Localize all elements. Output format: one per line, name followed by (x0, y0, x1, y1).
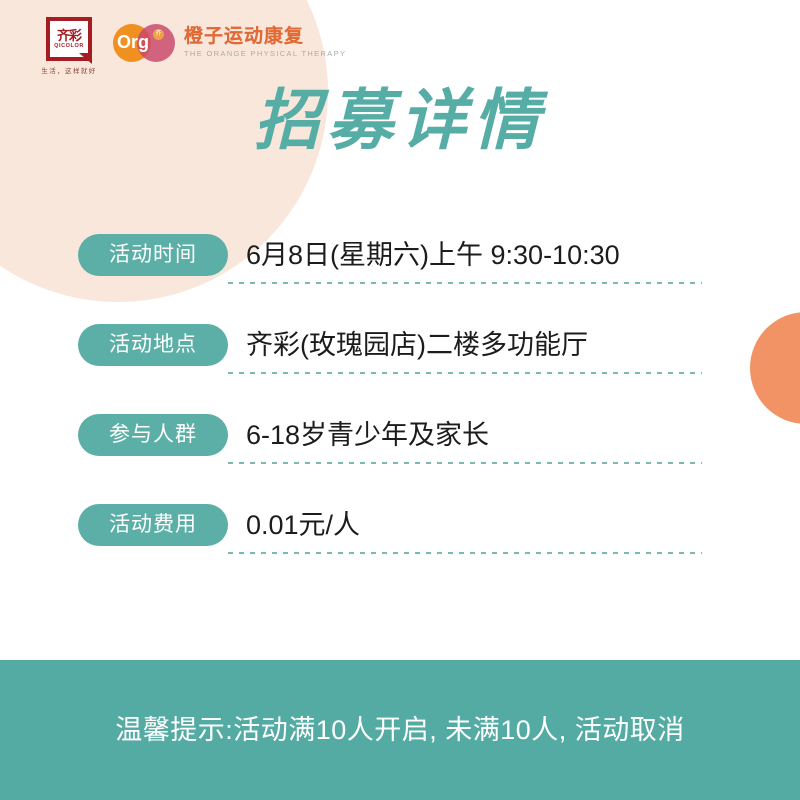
org-mark-text: Org (117, 33, 149, 52)
info-label-participants: 参与人群 (78, 414, 228, 456)
qicolor-wordmark: QICOLOR (54, 43, 84, 50)
row-divider (228, 552, 702, 554)
org-badge-icon: 齐 (153, 29, 164, 40)
row-divider (228, 462, 702, 464)
poster-root: 齐彩 QICOLOR 生活，这样就好 Org 齐 橙子运动康复 THE ORAN… (0, 0, 800, 800)
qicolor-tagline: 生活，这样就好 (41, 65, 96, 75)
decorative-orange-circle (750, 312, 800, 424)
orange-therapy-logo: Org 齐 橙子运动康复 THE ORANGE PHYSICAL THERAPY (113, 24, 346, 62)
qicolor-logo: 齐彩 QICOLOR 生活，这样就好 (38, 17, 100, 79)
info-label-activity-location: 活动地点 (78, 324, 228, 366)
org-circles-icon: Org 齐 (113, 24, 175, 62)
footer-notice-text: 温馨提示:活动满10人开启, 未满10人, 活动取消 (115, 711, 685, 749)
info-value-activity-location: 齐彩(玫瑰园店)二楼多功能厅 (228, 328, 702, 362)
qicolor-glyph: 齐彩 (57, 29, 81, 42)
info-row-participants: 参与人群 6-18岁青少年及家长 (78, 412, 702, 502)
brand-header: 齐彩 QICOLOR 生活，这样就好 Org 齐 橙子运动康复 THE ORAN… (0, 0, 800, 90)
footer-notice-band: 温馨提示:活动满10人开启, 未满10人, 活动取消 (0, 660, 800, 800)
info-value-activity-time: 6月8日(星期六)上午 9:30-10:30 (228, 238, 702, 272)
org-wordmark: 橙子运动康复 THE ORANGE PHYSICAL THERAPY (184, 26, 346, 60)
row-divider (228, 282, 702, 284)
info-row-activity-time: 活动时间 6月8日(星期六)上午 9:30-10:30 (78, 232, 702, 322)
info-value-participants: 6-18岁青少年及家长 (228, 418, 702, 452)
org-name-cn: 橙子运动康复 (184, 26, 346, 48)
info-list: 活动时间 6月8日(星期六)上午 9:30-10:30 活动地点 齐彩(玫瑰园店… (78, 232, 702, 592)
info-row-fee: 活动费用 0.01元/人 (78, 502, 702, 592)
row-divider (228, 372, 702, 374)
qicolor-mark-icon: 齐彩 QICOLOR (46, 17, 92, 61)
info-label-fee: 活动费用 (78, 504, 228, 546)
info-value-fee: 0.01元/人 (228, 508, 702, 542)
page-title: 招募详情 (0, 82, 800, 160)
org-name-en: THE ORANGE PHYSICAL THERAPY (184, 48, 346, 60)
info-row-activity-location: 活动地点 齐彩(玫瑰园店)二楼多功能厅 (78, 322, 702, 412)
info-label-activity-time: 活动时间 (78, 234, 228, 276)
